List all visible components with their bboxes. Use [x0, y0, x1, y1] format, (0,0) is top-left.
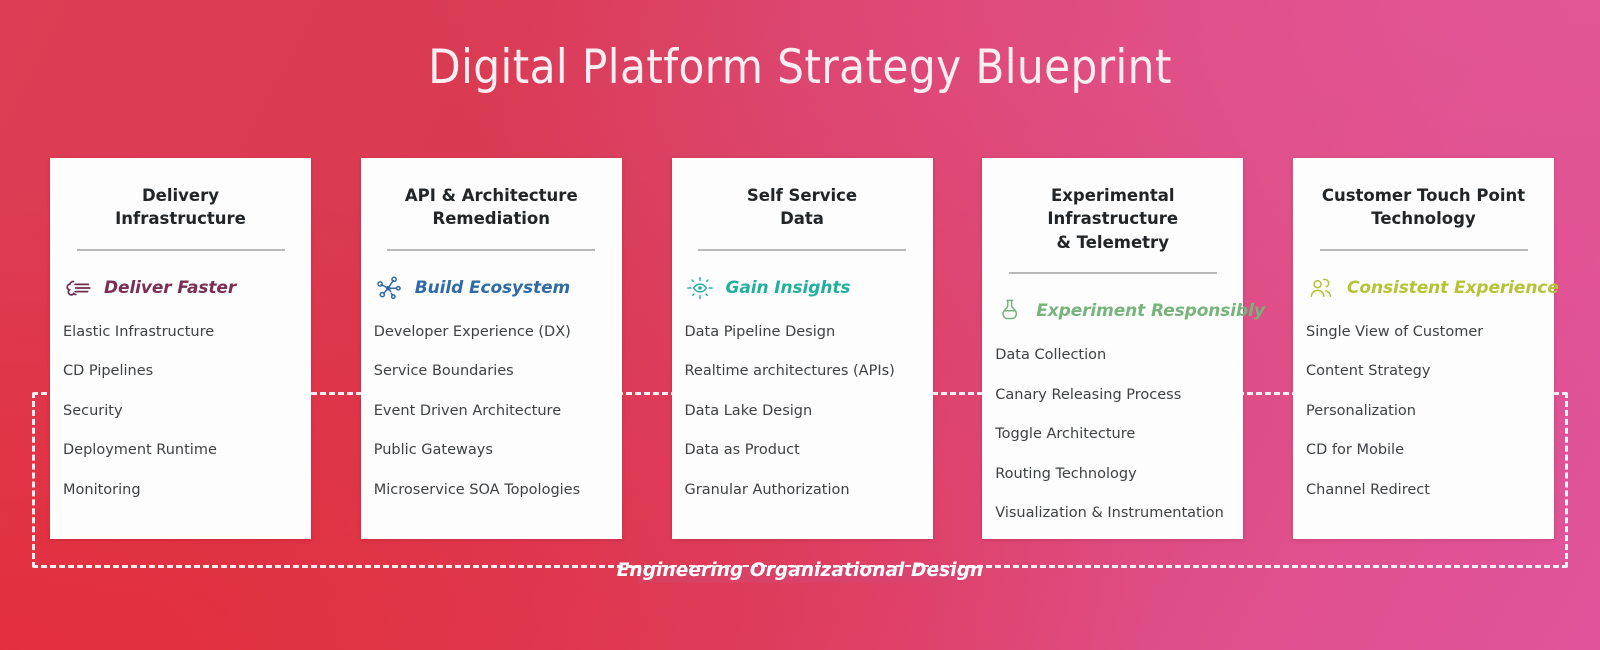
card-api-architecture-remediation[interactable]: API & Architecture Remediation Build Eco… — [361, 158, 622, 539]
card-item-list: Data Collection Canary Releasing Process… — [982, 348, 1243, 521]
list-item: Developer Experience (DX) — [374, 325, 612, 365]
card-delivery-infrastructure[interactable]: Delivery Infrastructure Deliver Faster E… — [50, 158, 311, 539]
card-row: Delivery Infrastructure Deliver Faster E… — [50, 158, 1554, 539]
list-item: Single View of Customer — [1306, 325, 1544, 365]
page-title: Digital Platform Strategy Blueprint — [0, 40, 1600, 95]
card-title: Customer Touch Point Technology — [1293, 184, 1554, 231]
lab-flask-icon — [995, 296, 1025, 326]
card-divider — [77, 249, 285, 251]
list-item: Canary Releasing Process — [995, 388, 1233, 428]
card-divider — [1320, 249, 1528, 251]
list-item: Service Boundaries — [374, 364, 612, 404]
card-title: Delivery Infrastructure — [50, 184, 311, 231]
card-tagline: Deliver Faster — [104, 278, 236, 298]
card-tagline: Gain Insights — [726, 278, 851, 298]
list-item: Granular Authorization — [685, 483, 923, 498]
card-self-service-data[interactable]: Self Service Data Gain Insights Data Pip… — [672, 158, 933, 539]
list-item: Public Gateways — [374, 443, 612, 483]
list-item: Channel Redirect — [1306, 483, 1544, 498]
card-item-list: Data Pipeline Design Realtime architectu… — [672, 325, 933, 498]
card-title: Experimental Infrastructure & Telemetry — [982, 184, 1243, 254]
card-item-list: Single View of Customer Content Strategy… — [1293, 325, 1554, 498]
card-tagline-row: Experiment Responsibly — [982, 294, 1243, 328]
list-item: Microservice SOA Topologies — [374, 483, 612, 498]
network-nodes-icon — [374, 273, 404, 303]
card-tagline: Consistent Experience — [1347, 278, 1559, 298]
card-title: API & Architecture Remediation — [361, 184, 622, 231]
list-item: Visualization & Instrumentation — [995, 506, 1233, 521]
list-item: Realtime architectures (APIs) — [685, 364, 923, 404]
list-item: Monitoring — [63, 483, 301, 498]
card-item-list: Developer Experience (DX) Service Bounda… — [361, 325, 622, 498]
card-tagline: Experiment Responsibly — [1036, 301, 1265, 321]
users-group-icon — [1306, 273, 1336, 303]
card-title: Self Service Data — [672, 184, 933, 231]
list-item: Elastic Infrastructure — [63, 325, 301, 365]
list-item: Security — [63, 404, 301, 444]
card-experimental-infrastructure-telemetry[interactable]: Experimental Infrastructure & Telemetry … — [982, 158, 1243, 539]
card-customer-touch-point-technology[interactable]: Customer Touch Point Technology Consiste… — [1293, 158, 1554, 539]
card-divider — [1009, 272, 1217, 274]
list-item: Routing Technology — [995, 467, 1233, 507]
card-tagline-row: Consistent Experience — [1293, 271, 1554, 305]
list-item: Content Strategy — [1306, 364, 1544, 404]
zone-label: Engineering Organizational Design — [593, 560, 1008, 581]
card-tagline-row: Build Ecosystem — [361, 271, 622, 305]
list-item: Data Pipeline Design — [685, 325, 923, 365]
cloud-speed-icon — [63, 273, 93, 303]
card-tagline-row: Gain Insights — [672, 271, 933, 305]
list-item: Data Collection — [995, 348, 1233, 388]
list-item: Personalization — [1306, 404, 1544, 444]
card-divider — [698, 249, 906, 251]
card-divider — [387, 249, 595, 251]
card-item-list: Elastic Infrastructure CD Pipelines Secu… — [50, 325, 311, 498]
list-item: Data Lake Design — [685, 404, 923, 444]
card-tagline-row: Deliver Faster — [50, 271, 311, 305]
card-tagline: Build Ecosystem — [415, 278, 570, 298]
list-item: Deployment Runtime — [63, 443, 301, 483]
list-item: CD Pipelines — [63, 364, 301, 404]
list-item: Toggle Architecture — [995, 427, 1233, 467]
list-item: Data as Product — [685, 443, 923, 483]
eye-insight-icon — [685, 273, 715, 303]
list-item: Event Driven Architecture — [374, 404, 612, 444]
list-item: CD for Mobile — [1306, 443, 1544, 483]
